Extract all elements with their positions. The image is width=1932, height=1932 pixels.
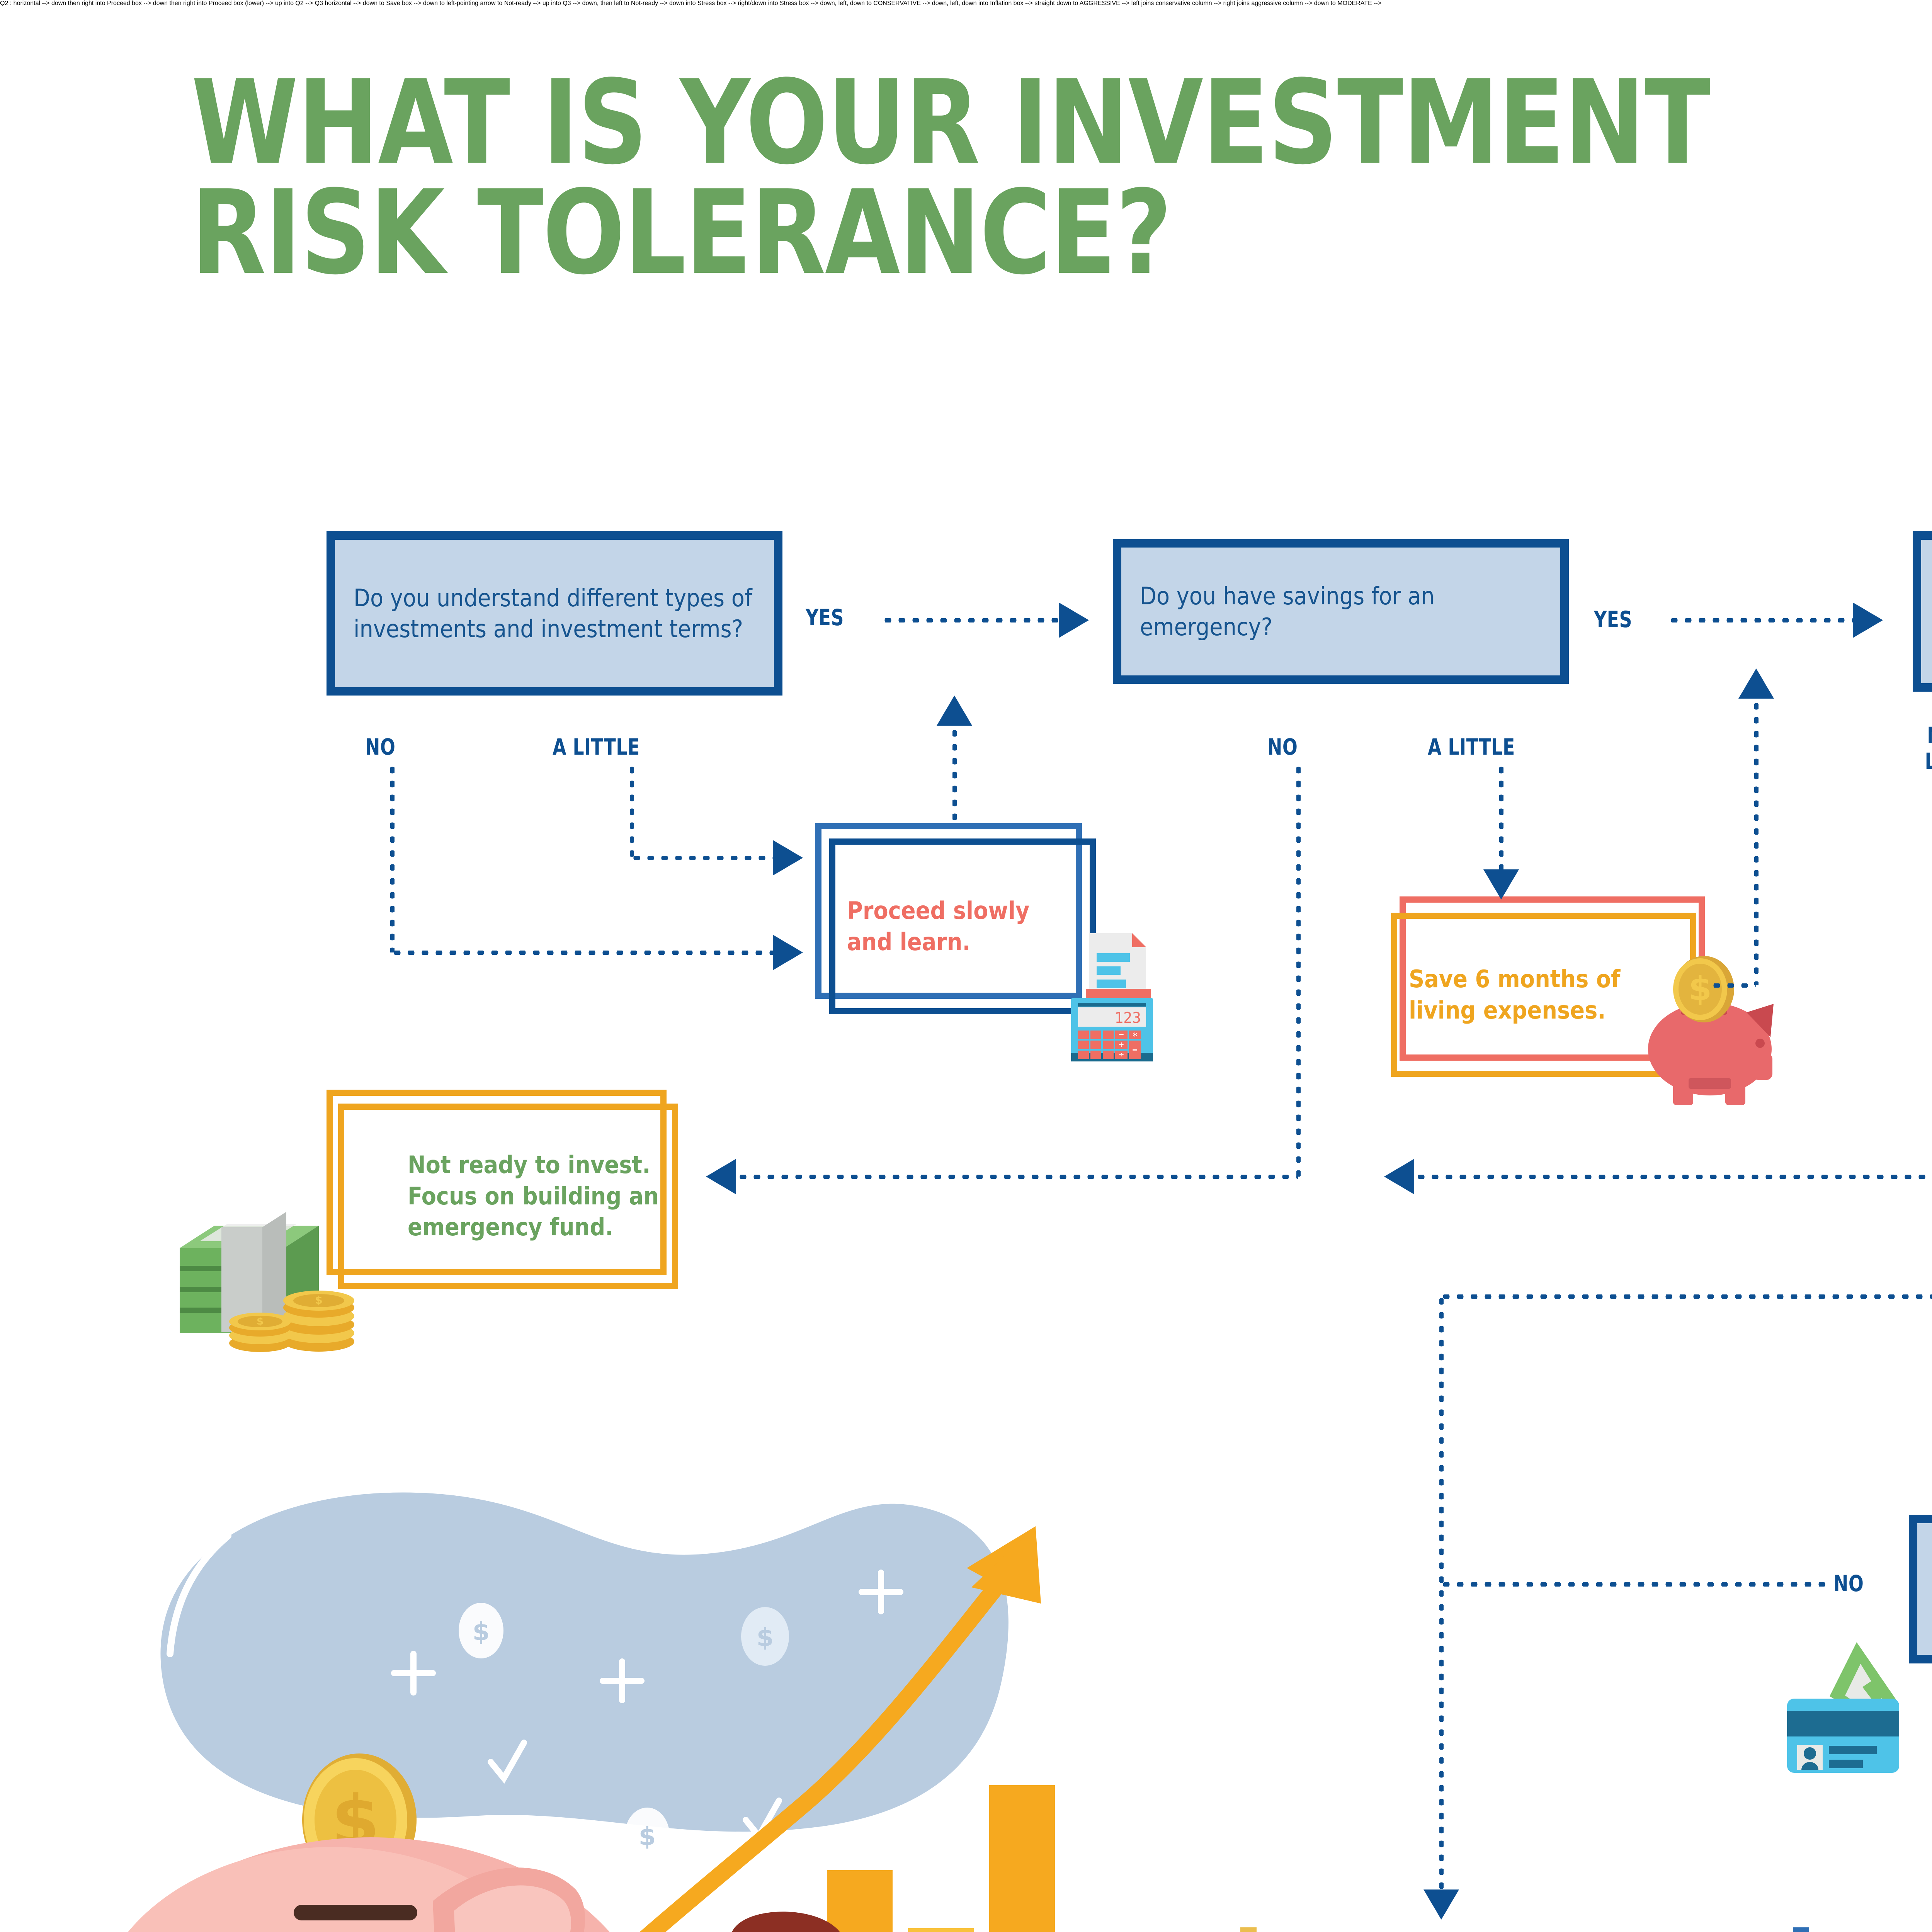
edge-label-no-2: NO xyxy=(1267,734,1298,760)
arrowhead-save-up xyxy=(1738,668,1774,699)
question-box-time[interactable]: Do you have a lot of time before you nee… xyxy=(1913,531,1932,692)
svg-text:÷: ÷ xyxy=(1118,1051,1124,1059)
arrowhead-q1-alittle xyxy=(773,840,803,876)
svg-text:=: = xyxy=(1132,1046,1138,1054)
page-title: WHAT IS YOUR INVESTMENT RISK TOLERANCE? xyxy=(191,68,1932,288)
connector-q1-alittle-down xyxy=(630,763,634,858)
arrowhead-q2-no-left xyxy=(706,1159,736,1194)
connector-q1-no-down xyxy=(390,763,395,952)
edge-label-inflation-no: NO xyxy=(1833,1571,1864,1597)
svg-text:$: $ xyxy=(757,1624,774,1652)
outcome-text-not-ready: Not ready to invest. Focus on building a… xyxy=(408,1150,663,1243)
svg-text:$: $ xyxy=(639,1823,656,1851)
piggy-bank-coin-icon: $ xyxy=(1631,954,1793,1109)
svg-text:$: $ xyxy=(1689,969,1712,1008)
calculator-icon: 123 −∗ += ÷ xyxy=(1047,925,1163,1068)
svg-text:123: 123 xyxy=(1114,1009,1141,1026)
piggy-bank-growth-chart-illustration: $$$ xyxy=(46,1437,1229,1932)
svg-text:+: + xyxy=(1118,1041,1124,1049)
connector-stress-no-down2 xyxy=(1439,1294,1444,1891)
arrowhead-q2-alittle xyxy=(1483,869,1519,900)
connector-q3-no-left xyxy=(1414,1175,1932,1179)
result-label-moderate: MODERATE xyxy=(1806,1917,1849,1932)
svg-text:∗: ∗ xyxy=(1132,1031,1138,1039)
connector-save-up-stub xyxy=(1710,983,1756,988)
connector-q1-alittle-right xyxy=(630,856,773,860)
question-text-savings: Do you have savings for an emergency? xyxy=(1140,581,1542,642)
connector-q1-yes-to-q2 xyxy=(881,618,1059,622)
connector-q2-no-down xyxy=(1296,763,1301,1177)
svg-text:$: $ xyxy=(257,1316,264,1327)
connector-q1-no-right xyxy=(390,951,773,955)
edge-label-yes-1: YES xyxy=(806,605,844,631)
question-text-understand: Do you understand different types of inv… xyxy=(354,583,755,644)
outcome-text-proceed: Proceed slowly and learn. xyxy=(847,895,1078,957)
connector-proceed-up-to-q2 xyxy=(952,726,957,823)
connector-q2-alittle-down xyxy=(1499,763,1503,871)
edge-label-a-little-2: A LITTLE xyxy=(1428,734,1515,760)
connector-q2-no-left xyxy=(736,1175,1298,1179)
connector-save-up-to-q3 xyxy=(1754,699,1759,985)
arrowhead-q1-no xyxy=(773,935,803,970)
arrowhead-proceed-up xyxy=(937,696,972,726)
arrowhead-q3-no-left xyxy=(1384,1159,1414,1194)
question-box-understand[interactable]: Do you understand different types of inv… xyxy=(327,531,782,696)
page-title-line2: RISK TOLERANCE? xyxy=(191,178,1932,288)
arrowhead-q2-yes xyxy=(1853,602,1883,638)
connector-q2-yes-to-q3 xyxy=(1667,618,1853,622)
result-card-conservative[interactable]: CONSERVATIVE Your priority is avoiding l… xyxy=(1240,1917,1689,1932)
svg-text:$: $ xyxy=(473,1618,490,1646)
edge-label-yes-2: YES xyxy=(1594,607,1632,633)
result-card-moderate[interactable]: MODERATE You're willing to take some ris… xyxy=(1793,1917,1932,1932)
arrowhead-q1-yes xyxy=(1059,602,1089,638)
edge-label-no-need-5-years: NO, NEED IN LESS THAN 5 YEARS xyxy=(1901,723,1932,800)
edge-label-no-1: NO xyxy=(365,734,395,760)
edge-label-a-little-1: A LITTLE xyxy=(553,734,640,760)
id-card-cash-icon xyxy=(1783,1611,1932,1777)
svg-text:−: − xyxy=(1118,1031,1124,1039)
result-label-conservative: CONSERVATIVE xyxy=(1253,1917,1296,1932)
cash-and-coins-icon: $ $ xyxy=(164,1190,435,1352)
svg-text:$: $ xyxy=(315,1294,322,1306)
arrowhead-stress-no xyxy=(1423,1889,1459,1920)
connector-stress-no-left xyxy=(1439,1294,1932,1299)
connector-inflation-no-left xyxy=(1439,1582,1830,1587)
question-box-savings[interactable]: Do you have savings for an emergency? xyxy=(1113,539,1569,684)
